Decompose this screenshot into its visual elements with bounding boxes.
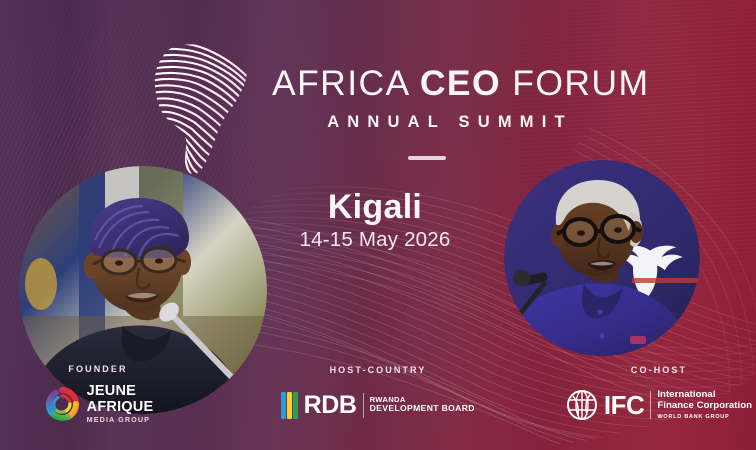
wordmark-africa: AFRICA — [272, 63, 420, 103]
partner-cohost-label: CO-HOST — [561, 365, 756, 375]
ifc-line-2: Finance Corporation — [657, 401, 752, 412]
wordmark-subtitle: ANNUAL SUMMIT — [272, 113, 616, 132]
ifc-abbr: IFC — [604, 392, 644, 418]
wordmark-forum: FORUM — [501, 63, 649, 103]
ifc-logo: IFC International Finance Corporation WO… — [561, 385, 756, 425]
rdb-logo: RDB RWANDA DEVELOPMENT BOARD — [280, 385, 476, 425]
jeune-afrique-wordmark: JEUNE AFRIQUE MEDIA GROUP — [87, 384, 154, 423]
partner-founder-label: FOUNDER — [0, 364, 196, 374]
rdb-abbr: RDB — [304, 393, 357, 418]
jeune-afrique-ring-icon — [43, 385, 81, 423]
ifc-line-3: WORLD BANK GROUP — [657, 414, 752, 420]
jeune-afrique-logo: JEUNE AFRIQUE MEDIA GROUP — [0, 384, 196, 424]
rdb-divider — [363, 393, 364, 418]
wordmark: AFRICA CEO FORUM ANNUAL SUMMIT — [272, 66, 616, 132]
ifc-wordmark: International Finance Corporation WORLD … — [657, 390, 752, 420]
wordmark-title: AFRICA CEO FORUM — [272, 66, 616, 102]
event-city: Kigali — [0, 188, 756, 227]
event-dates: 14-15 May 2026 — [0, 228, 756, 252]
brand-header: AFRICA CEO FORUM ANNUAL SUMMIT — [146, 40, 616, 180]
rdb-wordmark: RWANDA DEVELOPMENT BOARD — [370, 396, 475, 414]
rdb-line-2: DEVELOPMENT BOARD — [370, 404, 475, 414]
partner-host-label: HOST-COUNTRY — [280, 365, 476, 375]
ja-line-1: JEUNE — [87, 384, 154, 399]
africa-fingerprint-map-icon — [146, 42, 262, 176]
ja-line-3: MEDIA GROUP — [87, 416, 154, 423]
wordmark-ceo: CEO — [420, 63, 501, 103]
partner-host-country: HOST-COUNTRY RDB RWANDA DEVELOPMENT BOAR… — [280, 365, 476, 425]
ifc-globe-icon — [566, 389, 598, 421]
rdb-flag-bars-icon — [281, 392, 298, 419]
ja-line-2: AFRIQUE — [87, 400, 154, 415]
partner-co-host: CO-HOST IFC International Finance Corpor… — [561, 365, 756, 425]
event-poster: AFRICA CEO FORUM ANNUAL SUMMIT — [0, 0, 756, 450]
partner-founder: FOUNDER — [0, 364, 196, 424]
ifc-divider — [650, 391, 651, 419]
title-divider — [408, 156, 446, 160]
